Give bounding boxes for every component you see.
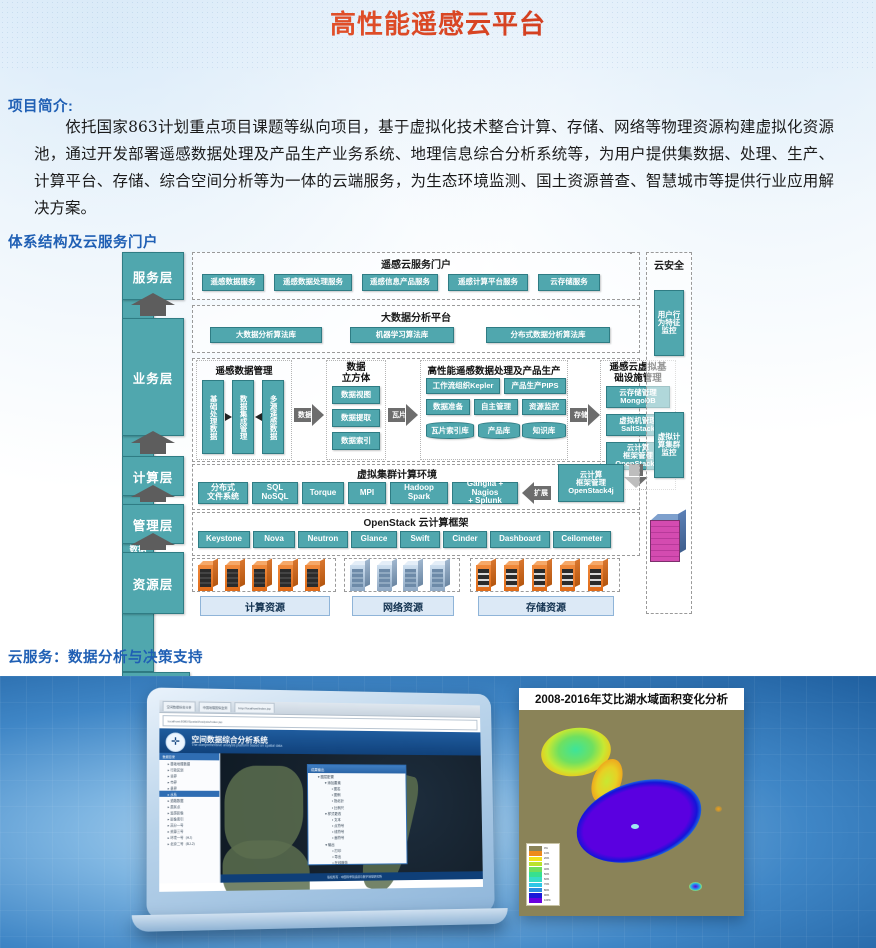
map-legend-label: 20% — [544, 857, 549, 860]
layer-up-arrow-0 — [140, 304, 166, 316]
network-switch-icon — [403, 561, 423, 591]
map-legend: 0%10%20%30%40%50%60%70%80%90%100% — [526, 843, 560, 906]
layer-tree[interactable]: ▸ 基础地理数据▸ 行政区划▸ 省界▸ 市界▸ 县界▸ 水系▸ 道路数据▸ 居民… — [159, 760, 219, 846]
resource-label-2: 存储资源 — [478, 596, 614, 616]
flow-arrow-tile: 瓦片 — [388, 404, 418, 426]
map-legend-swatch — [529, 857, 542, 862]
data-mgmt-arrow-right — [225, 413, 232, 421]
cluster-item-label: MPI — [360, 489, 374, 498]
layer-up-arrow-3 — [140, 544, 166, 550]
browser-screenshot: 空间数据综合分析 中国地理国情监测 http://localhost/index… — [159, 700, 483, 892]
cluster-item-0[interactable]: 分布式文件系统 — [198, 482, 248, 504]
data-mgmt-item-0[interactable]: 基础处理数据 — [202, 380, 224, 454]
openstack-title-text: OpenStack 云计算框架 — [363, 518, 468, 529]
landmass-shape — [223, 840, 310, 892]
security-item-label: 用户行为特征监控 — [658, 311, 681, 336]
architecture-diagram: 服务层业务层计算层管理层资源层遥感云服务门户遥感数据服务遥感数据处理服务遥感信息… — [122, 252, 762, 618]
cluster-item-label: SQLNoSQL — [261, 484, 288, 502]
portal-item-label: 遥感数据服务 — [211, 278, 256, 286]
media-showcase: 空间数据综合分析 中国地理国情监测 http://localhost/index… — [0, 676, 876, 948]
data-cube-item-0[interactable]: 数据视图 — [332, 386, 380, 404]
app-subtitle: The comprehensive analysis platform base… — [192, 744, 283, 749]
portal-item-2[interactable]: 遥感信息产品服务 — [362, 274, 438, 291]
resource-label-text: 存储资源 — [526, 599, 566, 614]
intro-text: 依托国家863计划重点项目课题等纵向项目，基于虚拟化技术整合计算、存储、网络等物… — [34, 118, 834, 217]
layer-up-arrow-1 — [140, 442, 166, 454]
openstack-item-label: Cinder — [452, 535, 477, 544]
processing-r1-item-0[interactable]: 工作流组织Kepler — [426, 378, 500, 394]
bigdata-item-label: 分布式数据分析算法库 — [511, 331, 586, 339]
map-legend-label: 60% — [544, 878, 549, 881]
layer-label: 计算层 — [133, 467, 174, 486]
spacer — [630, 252, 632, 254]
map-legend-label: 0% — [544, 847, 548, 850]
resource-label-0: 计算资源 — [200, 596, 330, 616]
intro-paragraph: 依托国家863计划重点项目课题等纵向项目，基于虚拟化技术整合计算、存储、网络等物… — [34, 114, 834, 222]
flow-arrow-storage: 存储 — [570, 404, 600, 426]
openstack-item-label: Neutron — [308, 535, 339, 544]
map-legend-swatch — [529, 867, 542, 872]
cluster-item-2[interactable]: Torque — [302, 482, 344, 504]
data-mgmt-item-2[interactable]: 多源遥感数据 — [262, 380, 284, 454]
bigdata-item-label: 机器学习算法库 — [376, 331, 429, 339]
cluster-item-1[interactable]: SQLNoSQL — [252, 482, 298, 504]
layer-label: 业务层 — [133, 368, 174, 387]
cluster-item-3[interactable]: MPI — [348, 482, 386, 504]
map-legend-swatch — [529, 846, 542, 851]
map-legend-label: 10% — [544, 852, 549, 855]
flow-arrow-tile-label: 瓦片 — [392, 410, 406, 420]
data-cube-item-2[interactable]: 数据索引 — [332, 432, 380, 450]
portal-item-label: 云存储服务 — [550, 278, 588, 286]
portal-item-1[interactable]: 遥感数据处理服务 — [274, 274, 352, 291]
processing-r1-item-1[interactable]: 产品生产PIPS — [504, 378, 566, 394]
portal-item-0[interactable]: 遥感数据服务 — [202, 274, 264, 291]
processing-item-label: 自主管理 — [481, 403, 511, 411]
processing-title: 高性能遥感数据处理及产品生产 — [420, 363, 568, 377]
cluster-item-4[interactable]: HadoopSpark — [390, 482, 448, 504]
openstack-item-label: Nova — [264, 535, 284, 544]
layer-label: 资源层 — [133, 574, 174, 593]
network-switch-icon — [377, 561, 397, 591]
map-legend-label: 30% — [544, 863, 549, 866]
portal-item-label: 遥感数据处理服务 — [283, 278, 343, 286]
security-item-0[interactable]: 用户行为特征监控 — [654, 290, 684, 356]
processing-item-label: 工作流组织Kepler — [433, 382, 494, 390]
map-legend-swatch — [529, 851, 542, 856]
processing-r2-item-2[interactable]: 资源监控 — [522, 399, 566, 415]
openstack-item-label: Swift — [410, 535, 429, 544]
processing-store-label: 产品库 — [488, 425, 511, 436]
flow-arrow-data: 数据 — [294, 404, 324, 426]
portal-title-text: 遥感云服务门户 — [381, 260, 451, 271]
openstack-item-2[interactable]: Neutron — [298, 531, 348, 548]
processing-r3-store-1[interactable]: 产品库 — [478, 422, 520, 439]
processing-item-label: 数据准备 — [433, 403, 463, 411]
cluster-item-label: Torque — [310, 489, 337, 498]
openstack-item-0[interactable]: Keystone — [198, 531, 250, 548]
map-legend-label: 90% — [544, 894, 549, 897]
map-legend-label: 70% — [544, 883, 549, 886]
openstack-item-label: Ceilometer — [561, 535, 602, 544]
data-cube-item-label: 数据索引 — [341, 437, 371, 445]
cluster-item-label: 分布式文件系统 — [207, 484, 239, 502]
app-body: 数据目录 ▸ 基础地理数据▸ 行政区划▸ 省界▸ 市界▸ 县界▸ 水系▸ 道路数… — [159, 753, 483, 884]
openstack-item-6[interactable]: Dashboard — [490, 531, 550, 548]
storage-array-icon — [504, 561, 524, 591]
flow-arrow-extend-label: 扩展 — [534, 488, 548, 498]
map-legend-label: 80% — [544, 889, 549, 892]
cluster-item-label: HadoopSpark — [404, 484, 434, 502]
layer-label: 服务层 — [133, 267, 174, 286]
processing-store-label: 瓦片索引库 — [431, 425, 469, 436]
data-cube-title-text: 数据立方体 — [342, 362, 371, 384]
resource-label-text: 网络资源 — [383, 599, 423, 614]
app-title: 空间数据综合分析系统 The comprehensive analysis pl… — [192, 736, 283, 750]
layer-box-1: 业务层 — [122, 318, 184, 436]
section-heading-cloud-service: 云服务：数据分析与决策支持 — [8, 646, 203, 667]
portal-item-4[interactable]: 云存储服务 — [538, 274, 600, 291]
map-legend-swatch — [529, 898, 542, 903]
data-mgmt-item-1[interactable]: 数据集成管理 — [232, 380, 254, 454]
processing-r2-item-0[interactable]: 数据准备 — [426, 399, 470, 415]
storage-array-icon — [532, 561, 552, 591]
map-legend-row: 100% — [529, 898, 557, 903]
map-legend-swatch — [529, 893, 542, 898]
data-mgmt-item-label: 多源遥感数据 — [269, 395, 277, 440]
data-mgmt-item-label: 数据集成管理 — [239, 395, 247, 440]
browser-tab[interactable]: 中国地理国情监测 — [199, 702, 232, 713]
layer-tree-item[interactable]: ▸ 北京二号（BJ-2） — [159, 840, 219, 847]
resource-label-1: 网络资源 — [352, 596, 454, 616]
storage-array-icon — [476, 561, 496, 591]
laptop-mockup: 空间数据综合分析 中国地理国情监测 http://localhost/index… — [146, 687, 494, 919]
layer-up-arrow-2 — [140, 496, 166, 502]
output-dialog-tree[interactable]: ▾ 图层配置▾ 添加要素• 图名• 图例• 指北针• 比例尺▾ 样式更改• 文本… — [308, 773, 407, 866]
data-cube-item-label: 数据视图 — [341, 391, 371, 399]
cluster-title-text: 虚拟集群计算环境 — [357, 470, 437, 481]
processing-store-label: 知识库 — [533, 425, 556, 436]
processing-r2-item-1[interactable]: 自主管理 — [474, 399, 518, 415]
map-legend-label: 100% — [544, 899, 551, 902]
map-legend-label: 50% — [544, 873, 549, 876]
storage-array-icon — [588, 561, 608, 591]
portal-item-label: 遥感计算平台服务 — [458, 278, 518, 286]
bigdata-item-2[interactable]: 分布式数据分析算法库 — [486, 327, 610, 343]
layer-box-4: 资源层 — [122, 552, 184, 614]
server-rack-icon — [305, 561, 325, 591]
lake-region-satellite — [715, 806, 722, 812]
storage-array-icon — [560, 561, 580, 591]
openstack-item-label: Glance — [361, 535, 388, 544]
page-title: 高性能遥感云平台 — [0, 4, 876, 41]
layer-tree-panel[interactable]: 数据目录 ▸ 基础地理数据▸ 行政区划▸ 省界▸ 市界▸ 县界▸ 水系▸ 道路数… — [159, 753, 220, 884]
flow-arrow-data-label: 数据 — [298, 410, 312, 420]
firewall-icon — [650, 514, 686, 560]
bigdata-title-text: 大数据分析平台 — [381, 313, 451, 324]
browser-tab[interactable]: http://localhost/index.jsp — [234, 702, 274, 713]
server-rack-icon — [278, 561, 298, 591]
bigdata-item-0[interactable]: 大数据分析算法库 — [210, 327, 322, 343]
network-switch-icon — [430, 561, 450, 591]
processing-title-text: 高性能遥感数据处理及产品生产 — [427, 366, 560, 377]
analysis-map-caption: 2008-2016年艾比湖水域面积变化分析 — [519, 688, 744, 710]
data-mgmt-arrow-left — [255, 413, 262, 421]
map-legend-swatch — [529, 872, 542, 877]
portal-item-3[interactable]: 遥感计算平台服务 — [448, 274, 528, 291]
cluster-item-label: Ganglia + Nagios+ Splunk — [453, 480, 517, 506]
flow-arrow-extend: 扩展 — [522, 482, 552, 504]
section-heading-architecture: 体系结构及云服务门户 — [8, 231, 158, 252]
map-legend-swatch — [529, 862, 542, 867]
data-cube-item-1[interactable]: 数据提取 — [332, 409, 380, 427]
openstack-item-7[interactable]: Ceilometer — [553, 531, 611, 548]
bigdata-title: 大数据分析平台 — [192, 309, 640, 324]
server-rack-icon — [225, 561, 245, 591]
layer-label: 管理层 — [133, 515, 174, 534]
security-item-label: 虚拟计算集群监控 — [658, 433, 681, 458]
data-cube-title: 数据立方体 — [326, 362, 386, 384]
processing-item-label: 资源监控 — [529, 403, 559, 411]
data-cube-item-label: 数据提取 — [341, 414, 371, 422]
map-legend-swatch — [529, 877, 542, 882]
openstack-item-3[interactable]: Glance — [351, 531, 397, 548]
openstack-item-1[interactable]: Nova — [253, 531, 295, 548]
openstack-title: OpenStack 云计算框架 — [192, 514, 640, 529]
lake-region-island — [631, 824, 639, 829]
cluster-openstack4j-label: 云计算框架管理OpenStack4j — [568, 471, 613, 496]
security-title-text: 云安全 — [654, 261, 684, 272]
map-legend-swatch — [529, 883, 542, 888]
analysis-map-card: 2008-2016年艾比湖水域面积变化分析 0%10%20%30%40%50%6… — [519, 688, 744, 916]
cluster-item-5[interactable]: Ganglia + Nagios+ Splunk — [452, 482, 518, 504]
security-title: 云安全 — [646, 257, 692, 272]
analysis-map-image: 0%10%20%30%40%50%60%70%80%90%100% — [519, 710, 744, 916]
lake-region-satellite — [689, 882, 702, 891]
openstack-item-label: Dashboard — [499, 535, 541, 544]
section-heading-intro: 项目简介: — [8, 95, 73, 116]
server-rack-icon — [198, 561, 218, 591]
output-dialog-item[interactable]: • 在线服务 — [309, 859, 407, 866]
server-rack-icon — [252, 561, 272, 591]
data-mgmt-item-label: 基础处理数据 — [209, 395, 217, 440]
cluster-title: 虚拟集群计算环境 — [192, 466, 602, 481]
cluster-openstack4j-chip[interactable]: 云计算框架管理OpenStack4j — [558, 464, 624, 502]
data-mgmt-title: 遥感数据管理 — [196, 363, 292, 377]
security-item-1[interactable]: 虚拟计算集群监控 — [654, 412, 684, 478]
resource-label-text: 计算资源 — [245, 599, 285, 614]
bigdata-item-1[interactable]: 机器学习算法库 — [350, 327, 454, 343]
map-canvas[interactable]: 成果输出 ▾ 图层配置▾ 添加要素• 图名• 图例• 指北针• 比例尺▾ 样式更… — [220, 753, 483, 882]
data-mgmt-title-text: 遥感数据管理 — [215, 366, 272, 377]
openstack-item-5[interactable]: Cinder — [443, 531, 487, 548]
portal-title: 遥感云服务门户 — [192, 256, 640, 271]
lake-region-main — [566, 765, 711, 877]
network-switch-icon — [350, 561, 370, 591]
flow-arrow-storage-label: 存储 — [574, 410, 588, 420]
map-legend-swatch — [529, 888, 542, 893]
openstack-item-label: Keystone — [206, 535, 242, 544]
browser-tab[interactable]: 空间数据综合分析 — [163, 701, 196, 712]
output-dialog[interactable]: 成果输出 ▾ 图层配置▾ 添加要素• 图名• 图例• 指北针• 比例尺▾ 样式更… — [307, 764, 408, 865]
openstack-item-4[interactable]: Swift — [400, 531, 440, 548]
portal-item-label: 遥感信息产品服务 — [370, 278, 430, 286]
processing-item-label: 产品生产PIPS — [511, 382, 558, 390]
processing-r3-store-2[interactable]: 知识库 — [522, 422, 566, 439]
bigdata-item-label: 大数据分析算法库 — [236, 331, 296, 339]
processing-r3-store-0[interactable]: 瓦片索引库 — [426, 422, 474, 439]
map-legend-label: 40% — [544, 868, 549, 871]
compass-logo-icon: ✛ — [166, 732, 186, 752]
